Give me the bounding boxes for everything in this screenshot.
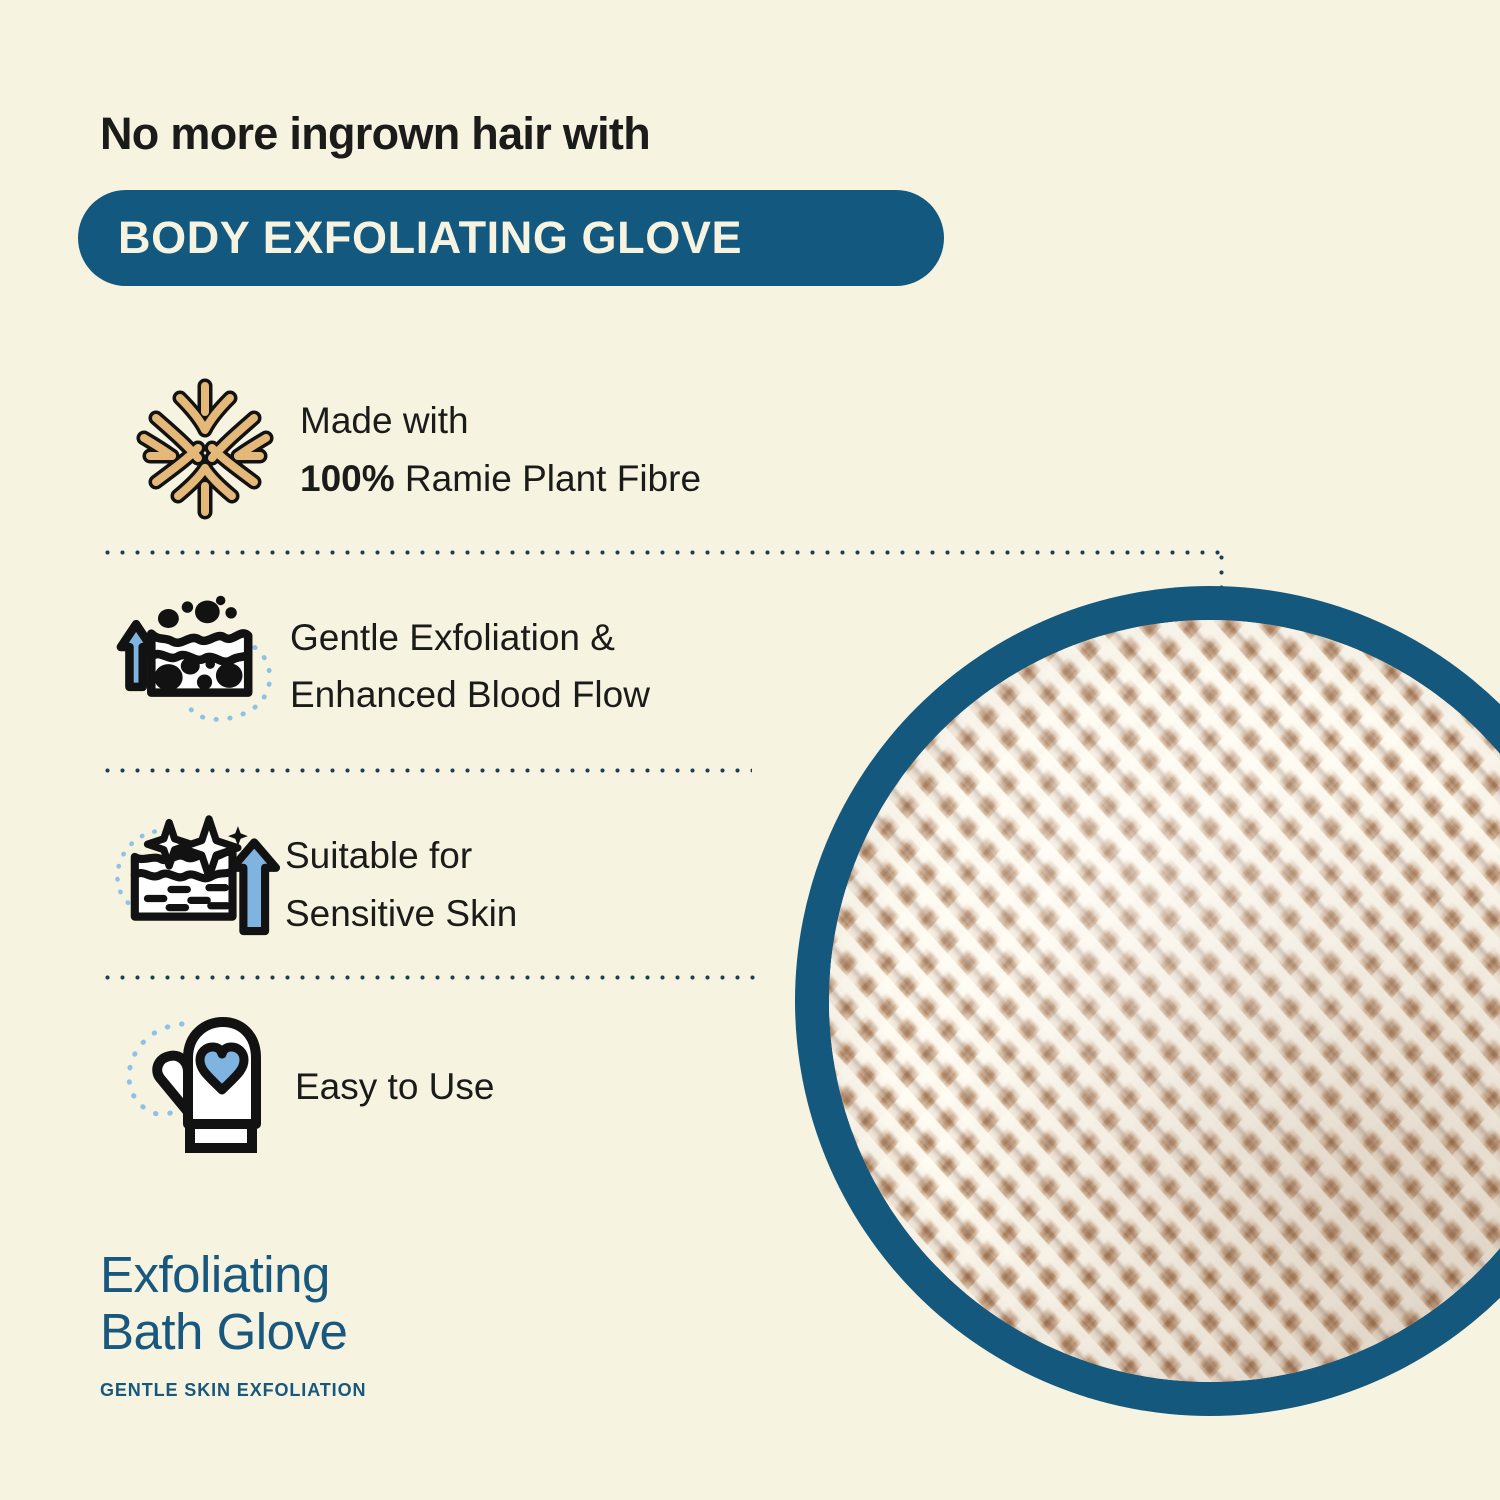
- glove-heart-icon: [105, 1014, 295, 1159]
- brand-logo: Exfoliating Bath Glove GENTLE SKIN EXFOL…: [100, 1246, 366, 1401]
- sensitive-skin-sparkle-icon: [95, 812, 285, 957]
- feature-label-sensitive-skin: Suitable for Sensitive Skin: [285, 827, 517, 942]
- product-infographic: No more ingrown hair with BODY EXFOLIATI…: [0, 0, 1500, 1500]
- feature-row-exfoliation: Gentle Exfoliation & Enhanced Blood Flow: [100, 592, 650, 740]
- feature-line-2: Sensitive Skin: [285, 885, 517, 942]
- feature-label-exfoliation: Gentle Exfoliation & Enhanced Blood Flow: [290, 609, 650, 724]
- brand-logo-line-1: Exfoliating: [100, 1246, 366, 1303]
- skin-exfoliation-arrow-icon: [100, 592, 290, 740]
- feature-label-ramie-fibre: Made with 100% Ramie Plant Fibre: [300, 392, 701, 507]
- divider-dotted-2: [100, 768, 752, 773]
- feature-line-2-bold: 100%: [300, 458, 395, 499]
- feature-line-1: Made with: [300, 392, 701, 449]
- feature-line-2: Enhanced Blood Flow: [290, 666, 650, 723]
- woven-fibre-icon: [110, 372, 300, 527]
- divider-dotted-3: [100, 975, 760, 980]
- feature-row-ramie-fibre: Made with 100% Ramie Plant Fibre: [110, 372, 701, 527]
- divider-dotted-1: [100, 550, 1224, 555]
- feature-label-easy-to-use: Easy to Use: [295, 1058, 494, 1115]
- product-image-circle: [795, 586, 1500, 1416]
- feature-line-2-rest: Ramie Plant Fibre: [395, 458, 701, 499]
- feature-line-1: Suitable for: [285, 827, 517, 884]
- brand-logo-tagline: GENTLE SKIN EXFOLIATION: [100, 1380, 366, 1401]
- page-title: No more ingrown hair with: [100, 108, 650, 160]
- feature-line-2: 100% Ramie Plant Fibre: [300, 450, 701, 507]
- weave-shading: [829, 620, 1500, 1382]
- feature-row-sensitive-skin: Suitable for Sensitive Skin: [95, 812, 517, 957]
- feature-row-easy-to-use: Easy to Use: [105, 1014, 494, 1159]
- feature-line-1: Easy to Use: [295, 1058, 494, 1115]
- feature-line-1: Gentle Exfoliation &: [290, 609, 650, 666]
- product-name-label: BODY EXFOLIATING GLOVE: [78, 212, 742, 264]
- brand-logo-line-2: Bath Glove: [100, 1303, 366, 1360]
- ramie-weave-texture: [829, 620, 1500, 1382]
- product-name-banner: BODY EXFOLIATING GLOVE: [78, 190, 944, 286]
